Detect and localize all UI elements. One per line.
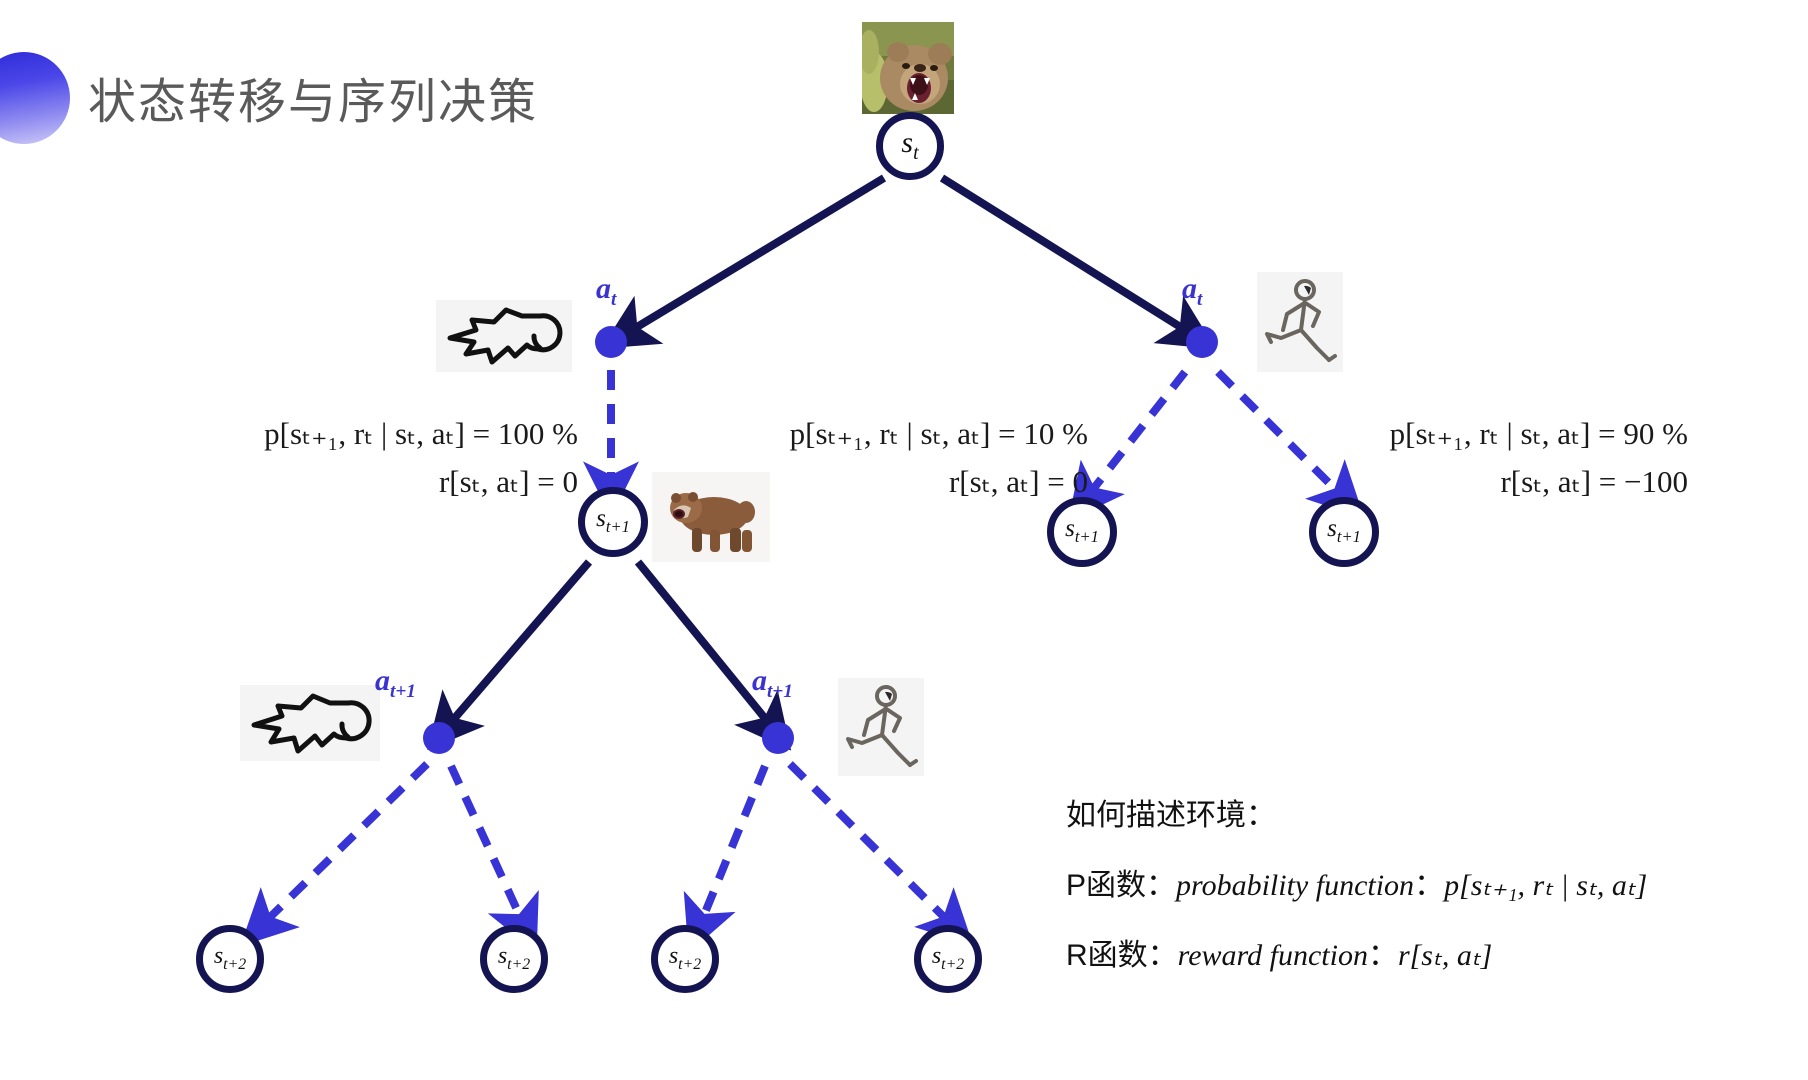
state-node-root-label: st xyxy=(901,126,918,165)
formula-right-reward: r[sₜ, aₜ] = −100 xyxy=(1318,458,1688,506)
state-node-root[interactable]: st xyxy=(876,112,944,180)
legend-r-function: R函数：reward function：r[sₜ, aₜ] xyxy=(1066,930,1647,974)
action-node-bottom-left[interactable] xyxy=(423,722,455,754)
running-stick-figure-icon xyxy=(1257,272,1343,372)
formula-middle-probability: p[sₜ₊₁, rₜ | sₜ, aₜ] = 10 % xyxy=(758,410,1088,458)
title-decoration-icon xyxy=(0,52,70,144)
state-node-level2-3-label: st+2 xyxy=(669,943,701,974)
formula-right-probability: p[sₜ₊₁, rₜ | sₜ, aₜ] = 90 % xyxy=(1318,410,1688,458)
legend-r-formula: r[sₜ, aₜ] xyxy=(1398,939,1492,972)
formula-left-probability: p[sₜ₊₁, rₜ | sₜ, aₜ] = 100 % xyxy=(228,410,578,458)
legend-p-function: P函数：probability function：p[sₜ₊₁, rₜ | sₜ… xyxy=(1066,860,1647,904)
action-label-bottom-left: at+1 xyxy=(375,664,416,703)
state-node-level2-1[interactable]: st+2 xyxy=(196,925,264,993)
formula-middle: p[sₜ₊₁, rₜ | sₜ, aₜ] = 10 % r[sₜ, aₜ] = … xyxy=(758,410,1088,506)
edge-group-root-actions xyxy=(627,178,1190,333)
formula-right: p[sₜ₊₁, rₜ | sₜ, aₜ] = 90 % r[sₜ, aₜ] = … xyxy=(1318,410,1688,506)
action-node-left[interactable] xyxy=(595,326,627,358)
state-node-level2-1-label: st+2 xyxy=(214,943,246,974)
edge-group-right-action-outcomes xyxy=(1087,372,1343,497)
state-node-level2-3[interactable]: st+2 xyxy=(651,925,719,993)
legend-p-formula: p[sₜ₊₁, rₜ | sₜ, aₜ] xyxy=(1444,869,1647,902)
standing-bear-photo xyxy=(652,472,770,562)
state-node-level1-mid[interactable]: st+1 xyxy=(1047,497,1117,567)
formula-middle-reward: r[sₜ, aₜ] = 0 xyxy=(758,458,1088,506)
action-label-right: at xyxy=(1182,272,1202,311)
edge-group-level1-actions xyxy=(447,562,772,727)
legend-p-separator: ： xyxy=(1414,869,1444,902)
legend-r-separator: ： xyxy=(1368,939,1398,972)
running-stick-figure-icon-2 xyxy=(838,678,924,776)
state-node-level1-right-label: st+1 xyxy=(1327,515,1361,547)
lying-animal-outline-icon xyxy=(436,300,572,372)
roaring-bear-photo xyxy=(862,22,954,114)
state-node-level1-left-label: st+1 xyxy=(596,505,630,537)
action-label-bottom-right: at+1 xyxy=(752,664,793,703)
lying-animal-outline-icon-2 xyxy=(240,685,380,761)
edge-group-bottom-left-outcomes xyxy=(262,764,524,925)
action-node-right[interactable] xyxy=(1186,326,1218,358)
legend-r-prefix: R函数： xyxy=(1066,939,1178,972)
legend-r-name: reward function xyxy=(1178,939,1368,972)
state-node-level1-right[interactable]: st+1 xyxy=(1309,497,1379,567)
environment-description-legend: 如何描述环境： P函数：probability function：p[sₜ₊₁,… xyxy=(1066,790,1647,1000)
state-node-level2-4[interactable]: st+2 xyxy=(914,925,982,993)
edge-group-bottom-right-outcomes xyxy=(700,764,952,925)
formula-left-reward: r[sₜ, aₜ] = 0 xyxy=(228,458,578,506)
state-node-level1-mid-label: st+1 xyxy=(1065,515,1099,547)
action-label-left: at xyxy=(596,272,616,311)
legend-heading: 如何描述环境： xyxy=(1066,790,1647,834)
formula-left: p[sₜ₊₁, rₜ | sₜ, aₜ] = 100 % r[sₜ, aₜ] =… xyxy=(228,410,578,506)
action-node-bottom-right[interactable] xyxy=(762,722,794,754)
state-node-level2-4-label: st+2 xyxy=(932,943,964,974)
legend-p-prefix: P函数： xyxy=(1066,869,1176,902)
legend-p-name: probability function xyxy=(1176,869,1414,902)
page-title: 状态转移与序列决策 xyxy=(88,62,538,132)
state-node-level2-2-label: st+2 xyxy=(498,943,530,974)
state-node-level1-left[interactable]: st+1 xyxy=(578,487,648,557)
state-node-level2-2[interactable]: st+2 xyxy=(480,925,548,993)
